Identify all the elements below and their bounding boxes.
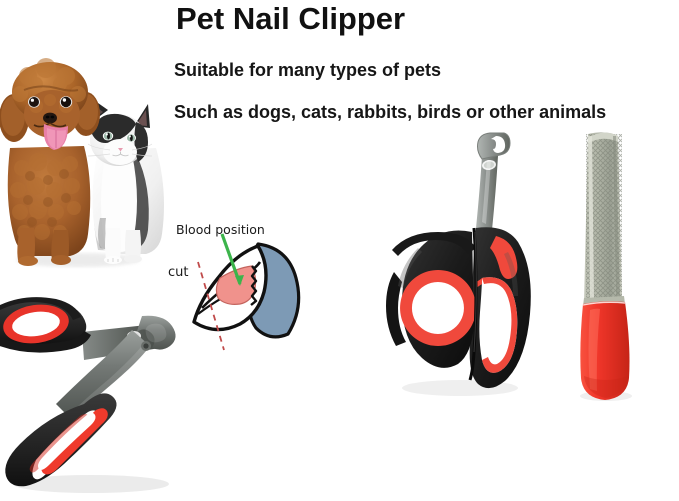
subtitle-line-2: Such as dogs, cats, rabbits, birds or ot… [174, 102, 606, 123]
page-title: Pet Nail Clipper [176, 2, 405, 36]
dog-figure [0, 58, 100, 266]
nail-file-photo [548, 128, 668, 406]
cat-figure [88, 96, 164, 264]
dog-head [0, 58, 100, 150]
nail-clipper-full-photo [372, 132, 542, 400]
nail-anatomy-diagram: Blood position cut [162, 222, 342, 352]
blood-position-label: Blood position [176, 222, 265, 237]
dog-and-cat-photo [0, 22, 168, 270]
cut-label: cut [168, 265, 188, 280]
nail-clipper-closeup-photo [0, 288, 186, 501]
product-infographic: Pet Nail Clipper Suitable for many types… [0, 0, 679, 501]
subtitle-line-1: Suitable for many types of pets [174, 60, 441, 81]
